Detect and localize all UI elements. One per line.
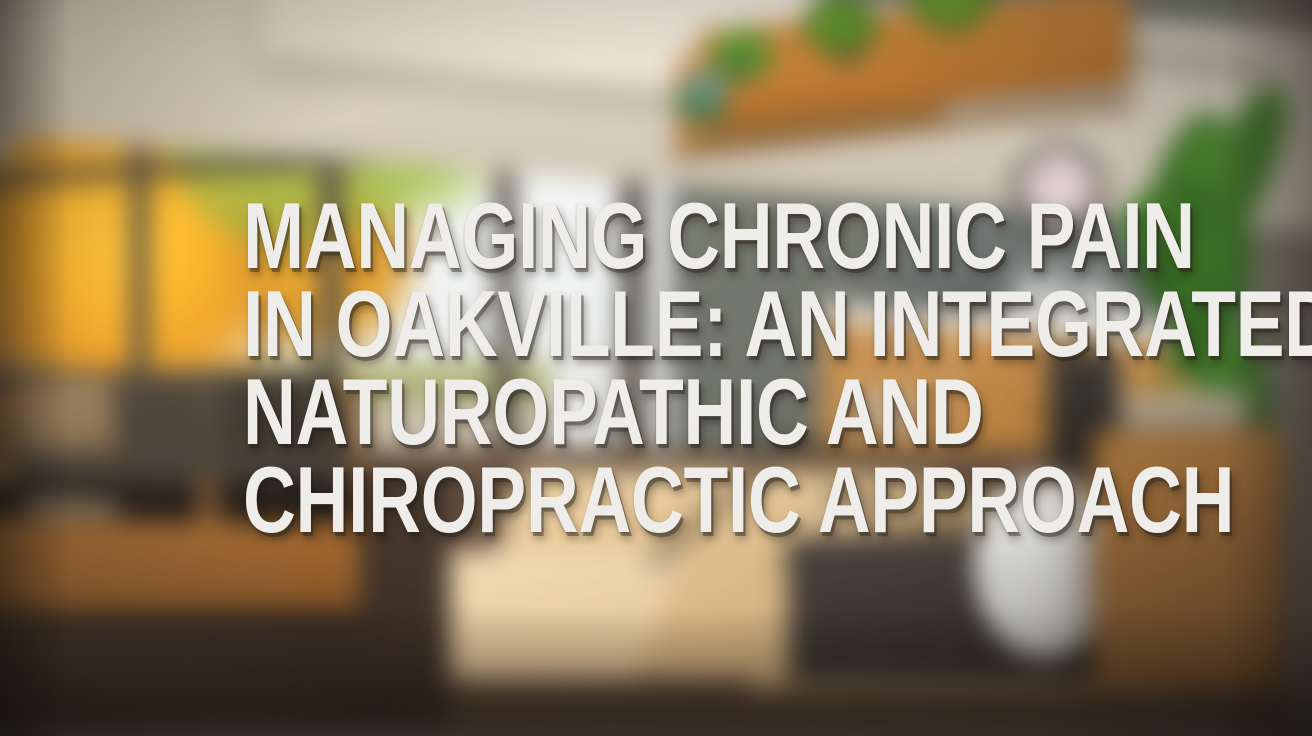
banner-image: MANAGING CHRONIC PAIN IN OAKVILLE: AN IN… (0, 0, 1312, 736)
cabinet-seam (1055, 10, 1057, 106)
wood-grain-line (1098, 642, 1278, 645)
title-line-4: CHIROPRACTIC APPROACH (243, 456, 914, 544)
title-line-3: NATUROPATHIC AND (243, 368, 914, 456)
shelf-plant-pot (716, 50, 758, 82)
title-line-2: IN OAKVILLE: AN INTEGRATED (243, 280, 914, 368)
wood-grain-line (1098, 590, 1278, 593)
banner-title: MANAGING CHRONIC PAIN IN OAKVILLE: AN IN… (243, 192, 1103, 544)
title-line-1: MANAGING CHRONIC PAIN (243, 192, 914, 280)
